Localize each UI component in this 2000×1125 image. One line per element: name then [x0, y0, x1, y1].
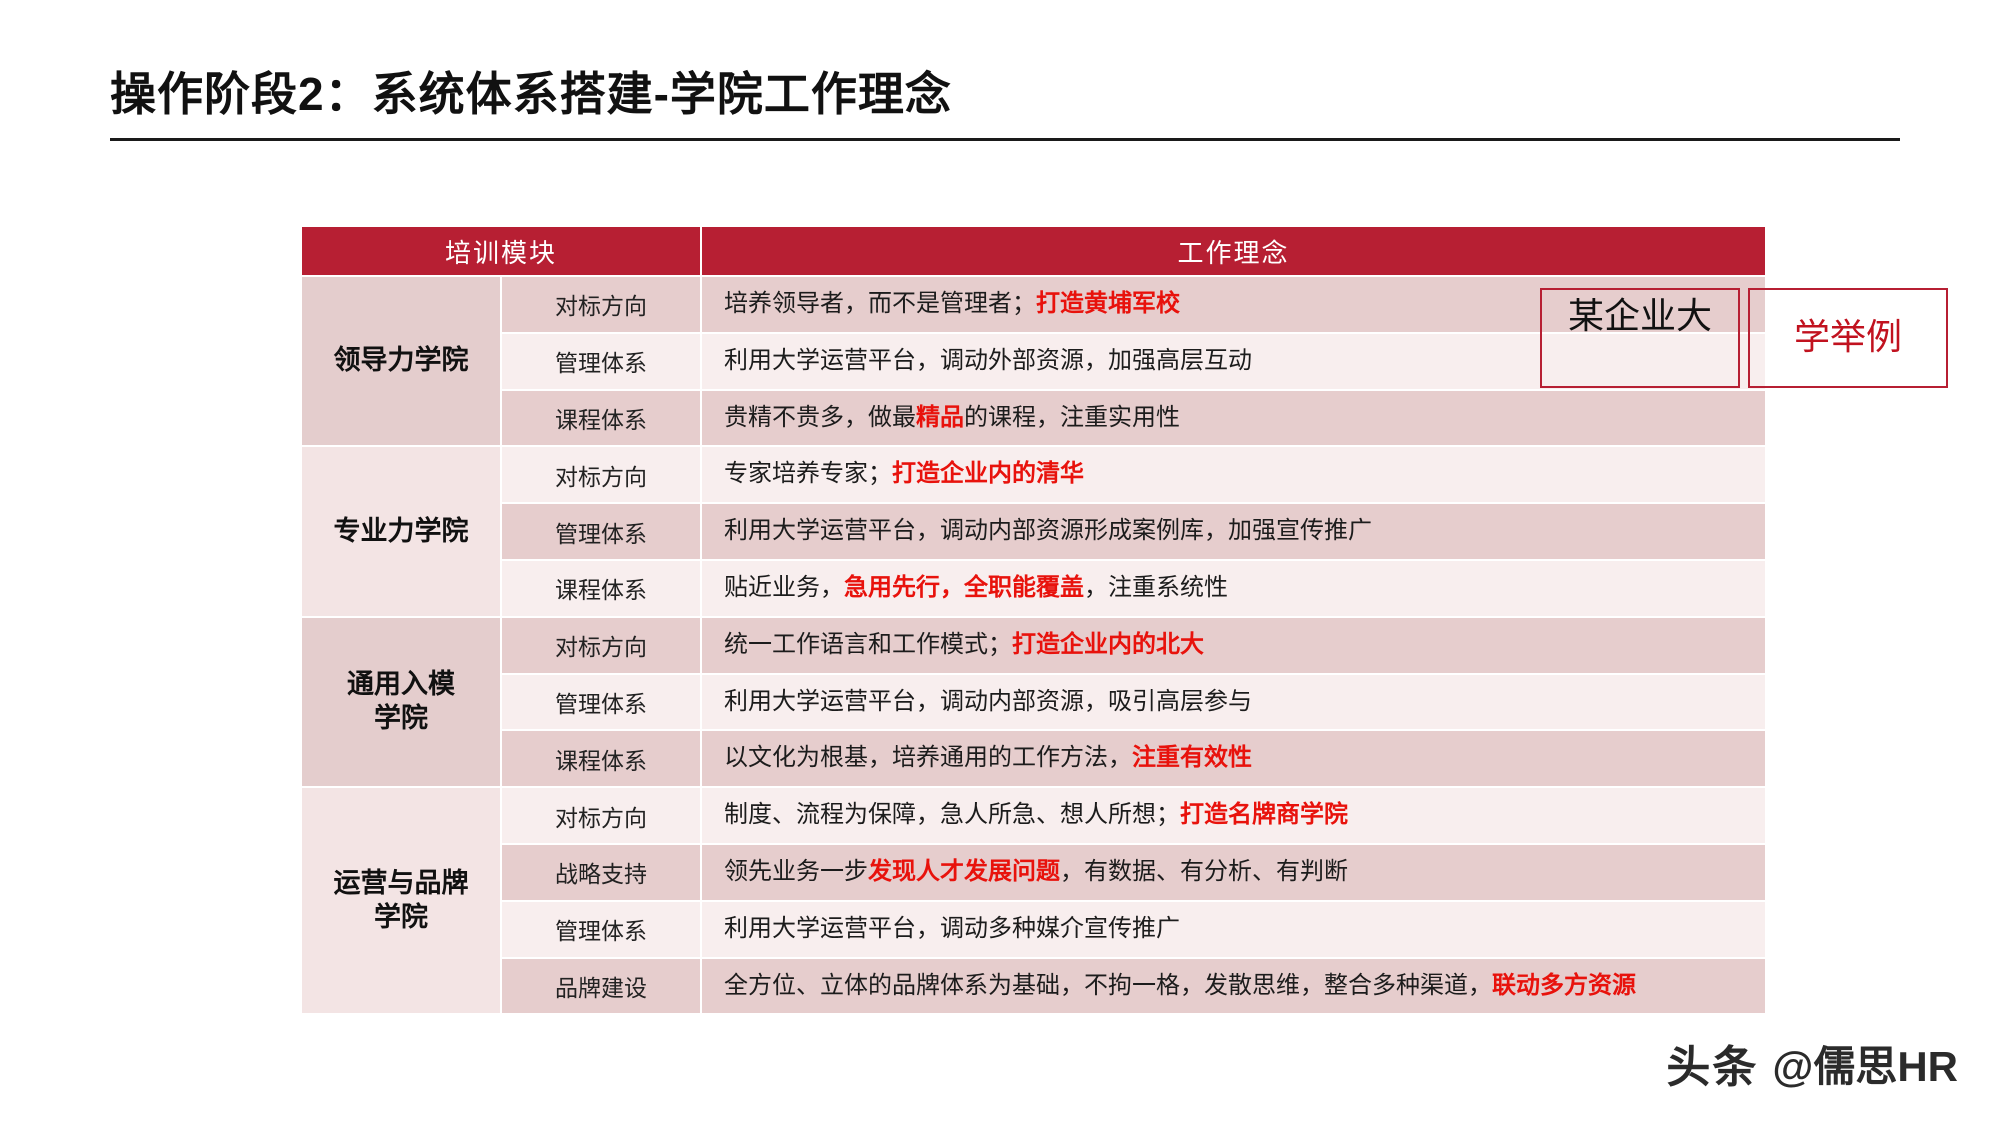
row-subcategory: 战略支持 [501, 844, 701, 901]
group-label-cell: 领导力学院 [301, 276, 501, 446]
row-subcategory: 管理体系 [501, 901, 701, 958]
table-row: 运营与品牌学院对标方向制度、流程为保障，急人所急、想人所想；打造名牌商学院 [301, 787, 1766, 844]
concept-highlight: 急用先行，全职能覆盖 [844, 575, 1084, 601]
group-label-line: 通用入模 [302, 668, 500, 702]
group-label-line: 学院 [302, 702, 500, 736]
concept-plain: 以文化为根基，培养通用的工作方法， [724, 745, 1132, 771]
row-concept-text: 利用大学运营平台，调动内部资源形成案例库，加强宣传推广 [701, 503, 1766, 560]
group-label-cell: 运营与品牌学院 [301, 787, 501, 1014]
row-subcategory: 对标方向 [501, 787, 701, 844]
table-row: 课程体系以文化为根基，培养通用的工作方法，注重有效性 [301, 730, 1766, 787]
table-row: 通用入模学院对标方向统一工作语言和工作模式；打造企业内的北大 [301, 617, 1766, 674]
row-concept-text: 制度、流程为保障，急人所急、想人所想；打造名牌商学院 [701, 787, 1766, 844]
column-header-concept: 工作理念 [701, 226, 1766, 276]
row-subcategory: 管理体系 [501, 333, 701, 390]
callout-box-left: 某企业大 [1540, 288, 1740, 388]
page-title: 操作阶段2：系统体系搭建-学院工作理念 [110, 58, 1910, 124]
concept-plain: 专家培养专家； [724, 461, 892, 487]
row-concept-text: 贴近业务，急用先行，全职能覆盖，注重系统性 [701, 560, 1766, 617]
concept-plain: 贴近业务， [724, 575, 844, 601]
concept-plain: 领先业务一步 [724, 859, 868, 885]
concept-highlight: 联动多方资源 [1492, 973, 1636, 999]
watermark: 头条 @儒思HR [1666, 1031, 1958, 1095]
table-row: 品牌建设全方位、立体的品牌体系为基础，不拘一格，发散思维，整合多种渠道，联动多方… [301, 958, 1766, 1015]
concept-highlight: 打造企业内的清华 [892, 461, 1084, 487]
concept-plain: 全方位、立体的品牌体系为基础，不拘一格，发散思维，整合多种渠道， [724, 973, 1492, 999]
row-concept-text: 全方位、立体的品牌体系为基础，不拘一格，发散思维，整合多种渠道，联动多方资源 [701, 958, 1766, 1015]
row-concept-text: 利用大学运营平台，调动多种媒介宣传推广 [701, 901, 1766, 958]
table-row: 管理体系利用大学运营平台，调动多种媒介宣传推广 [301, 901, 1766, 958]
concept-plain: 利用大学运营平台，调动内部资源，吸引高层参与 [724, 689, 1252, 715]
group-label-line: 运营与品牌 [302, 867, 500, 901]
row-subcategory: 品牌建设 [501, 958, 701, 1015]
concept-tail: ，注重系统性 [1084, 575, 1228, 601]
row-subcategory: 课程体系 [501, 730, 701, 787]
row-concept-text: 贵精不贵多，做最精品的课程，注重实用性 [701, 390, 1766, 447]
table-row: 管理体系利用大学运营平台，调动内部资源，吸引高层参与 [301, 674, 1766, 731]
slide-title-block: 操作阶段2：系统体系搭建-学院工作理念 [110, 58, 1910, 141]
group-label-line: 学院 [302, 901, 500, 935]
row-concept-text: 统一工作语言和工作模式；打造企业内的北大 [701, 617, 1766, 674]
row-subcategory: 课程体系 [501, 390, 701, 447]
table-row: 课程体系贵精不贵多，做最精品的课程，注重实用性 [301, 390, 1766, 447]
concept-tail: 的课程，注重实用性 [964, 405, 1180, 431]
concept-highlight: 精品 [916, 405, 964, 431]
watermark-text: @儒思HR [1772, 1033, 1958, 1094]
group-label-cell: 专业力学院 [301, 446, 501, 616]
row-subcategory: 课程体系 [501, 560, 701, 617]
concept-highlight: 打造企业内的北大 [1012, 632, 1204, 658]
table-row: 课程体系贴近业务，急用先行，全职能覆盖，注重系统性 [301, 560, 1766, 617]
table-row: 管理体系利用大学运营平台，调动内部资源形成案例库，加强宣传推广 [301, 503, 1766, 560]
concept-highlight: 打造黄埔军校 [1036, 291, 1180, 317]
concept-plain: 制度、流程为保障，急人所急、想人所想； [724, 802, 1180, 828]
table-row: 专业力学院对标方向专家培养专家；打造企业内的清华 [301, 446, 1766, 503]
concept-tail: ，有数据、有分析、有判断 [1060, 859, 1348, 885]
watermark-logo: 头条 [1666, 1031, 1758, 1095]
group-label-line: 领导力学院 [302, 344, 500, 378]
row-concept-text: 以文化为根基，培养通用的工作方法，注重有效性 [701, 730, 1766, 787]
concept-plain: 利用大学运营平台，调动外部资源，加强高层互动 [724, 348, 1252, 374]
table-row: 战略支持领先业务一步发现人才发展问题，有数据、有分析、有判断 [301, 844, 1766, 901]
table-header-row: 培训模块 工作理念 [301, 226, 1766, 276]
concept-plain: 利用大学运营平台，调动多种媒介宣传推广 [724, 916, 1180, 942]
title-underline [110, 138, 1900, 141]
row-subcategory: 对标方向 [501, 446, 701, 503]
row-concept-text: 领先业务一步发现人才发展问题，有数据、有分析、有判断 [701, 844, 1766, 901]
row-concept-text: 利用大学运营平台，调动内部资源，吸引高层参与 [701, 674, 1766, 731]
concept-plain: 利用大学运营平台，调动内部资源形成案例库，加强宣传推广 [724, 518, 1372, 544]
group-label-cell: 通用入模学院 [301, 617, 501, 787]
concept-highlight: 注重有效性 [1132, 745, 1252, 771]
callout-box-right: 学举例 [1748, 288, 1948, 388]
row-concept-text: 专家培养专家；打造企业内的清华 [701, 446, 1766, 503]
column-header-module: 培训模块 [301, 226, 701, 276]
concept-plain: 贵精不贵多，做最 [724, 405, 916, 431]
group-label-line: 专业力学院 [302, 515, 500, 549]
concept-plain: 培养领导者，而不是管理者； [724, 291, 1036, 317]
concept-highlight: 发现人才发展问题 [868, 859, 1060, 885]
row-subcategory: 对标方向 [501, 617, 701, 674]
row-subcategory: 管理体系 [501, 674, 701, 731]
concept-highlight: 打造名牌商学院 [1180, 802, 1348, 828]
row-subcategory: 对标方向 [501, 276, 701, 333]
row-subcategory: 管理体系 [501, 503, 701, 560]
concept-plain: 统一工作语言和工作模式； [724, 632, 1012, 658]
